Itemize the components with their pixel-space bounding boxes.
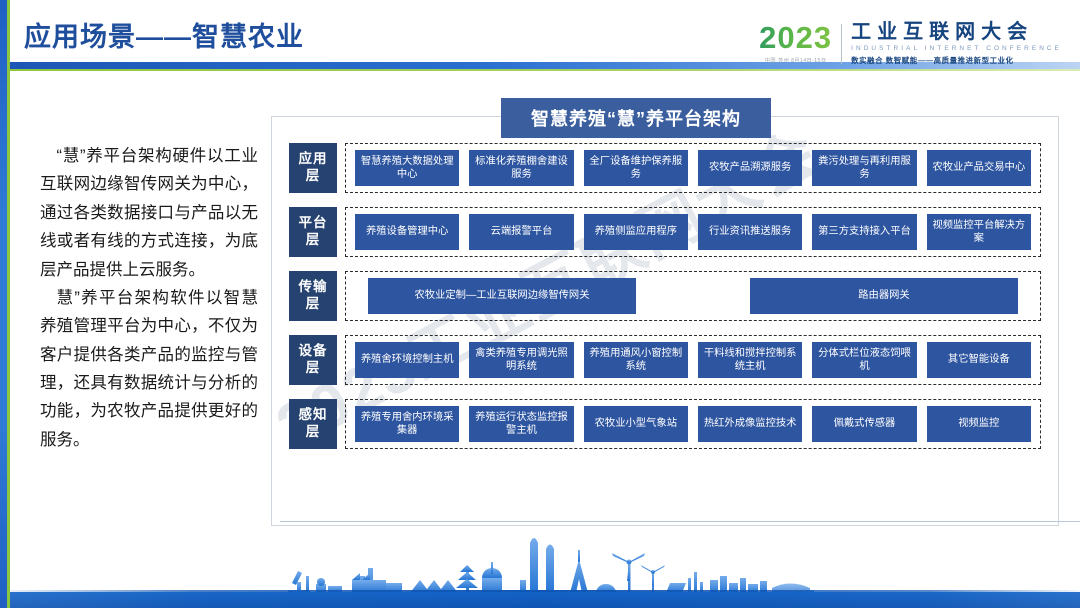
diagram-cell[interactable]: 农牧业小型气象站 [584,406,688,442]
layer-tag-application: 应用 层 [289,143,337,193]
diagram-layer-list: 应用 层 智慧养殖大数据处理中心 标准化养殖棚舍建设服务 全厂设备维护保养服务 … [272,143,1058,449]
lead-paragraphs: “慧”养平台架构硬件以工业互联网边缘智传网关为中心，通过各类数据接口与产品以无线… [40,142,258,454]
diagram-cell[interactable]: 标准化养殖棚舍建设服务 [469,150,573,186]
diagram-cell[interactable]: 粪污处理与再利用服务 [812,150,916,186]
diagram-cell[interactable]: 其它智能设备 [927,342,1031,378]
diagram-cell[interactable]: 农牧产品溯源服务 [698,150,802,186]
footer-skyline [0,520,1080,608]
diagram-cell[interactable]: 分体式栏位液态饲喂机 [812,342,916,378]
diagram-cell[interactable]: 养殖侧监应用程序 [584,214,688,250]
logo-date-line: 中国·苏州 8月14日-15日 [765,57,827,64]
layer-tag-platform-line2: 层 [306,232,321,249]
layer-body-device: 养殖舍环境控制主机 禽类养殖专用调光照明系统 养殖用通风小窗控制系统 干料线和搅… [345,335,1041,385]
diagram-cell[interactable]: 视频监控平台解决方案 [927,214,1031,250]
diagram-cell[interactable]: 路由器网关 [750,278,1018,314]
diagram-cell[interactable]: 养殖专用舍内环境采集器 [355,406,459,442]
logo-year-block: 2023 中国·苏州 8月14日-15日 [759,22,841,64]
diagram-cell[interactable]: 行业资讯推送服务 [698,214,802,250]
page-title: 应用场景——智慧农业 [24,15,304,54]
diagram-cell[interactable]: 云端报警平台 [469,214,573,250]
layer-tag-transport-line1: 传输 [299,279,328,296]
conference-logo: 2023 中国·苏州 8月14日-15日 工业互联网大会 INDUSTRIAL … [759,22,1062,66]
diagram-cell[interactable]: 禽类养殖专用调光照明系统 [469,342,573,378]
left-edge-blue-bar [0,0,7,608]
logo-name-block: 工业互联网大会 INDUSTRIAL INTERNET CONFERENCE 数… [842,22,1062,66]
diagram-cell[interactable]: 智慧养殖大数据处理中心 [355,150,459,186]
diagram-cell[interactable]: 农牧业产品交易中心 [927,150,1031,186]
left-edge-green-bar [7,0,10,608]
layer-tag-application-line1: 应用 [299,151,328,168]
layer-row-platform: 平台 层 养殖设备管理中心 云端报警平台 养殖侧监应用程序 行业资讯推送服务 第… [272,207,1058,257]
layer-row-perception: 感知 层 养殖专用舍内环境采集器 养殖运行状态监控报警主机 农牧业小型气象站 热… [272,399,1058,449]
diagram-title: 智慧养殖“慧”养平台架构 [501,98,771,138]
diagram-cell[interactable]: 视频监控 [927,406,1031,442]
layer-body-application: 智慧养殖大数据处理中心 标准化养殖棚舍建设服务 全厂设备维护保养服务 农牧产品溯… [345,143,1041,193]
title-divider-green [0,69,1080,71]
layer-row-transport: 传输 层 农牧业定制—工业互联网边缘智传网关 路由器网关 [272,271,1058,321]
layer-tag-application-line2: 层 [306,168,321,185]
layer-tag-perception: 感知 层 [289,399,337,449]
diagram-cell[interactable]: 养殖用通风小窗控制系统 [584,342,688,378]
diagram-cell[interactable]: 养殖运行状态监控报警主机 [469,406,573,442]
layer-body-perception: 养殖专用舍内环境采集器 养殖运行状态监控报警主机 农牧业小型气象站 热红外成像监… [345,399,1041,449]
layer-tag-platform-line1: 平台 [299,215,328,232]
skyline-illustration [0,520,1080,608]
logo-tagline: 数实融合 数智赋能——高质量推进新型工业化 [851,55,1062,66]
layer-tag-platform: 平台 层 [289,207,337,257]
layer-tag-device-line1: 设备 [299,343,328,360]
lead-paragraph-2: 慧”养平台架构软件以智慧养殖管理平台为中心，不仅为客户提供各类产品的监控与管理，… [40,284,258,454]
layer-row-application: 应用 层 智慧养殖大数据处理中心 标准化养殖棚舍建设服务 全厂设备维护保养服务 … [272,143,1058,193]
diagram-cell[interactable]: 佩戴式传感器 [812,406,916,442]
logo-year: 2023 [759,22,832,53]
diagram-cell[interactable]: 全厂设备维护保养服务 [584,150,688,186]
layer-row-device: 设备 层 养殖舍环境控制主机 禽类养殖专用调光照明系统 养殖用通风小窗控制系统 … [272,335,1058,385]
diagram-cell[interactable]: 农牧业定制—工业互联网边缘智传网关 [368,278,636,314]
layer-tag-transport: 传输 层 [289,271,337,321]
layer-tag-transport-line2: 层 [306,296,321,313]
diagram-cell[interactable]: 干料线和搅拌控制系统主机 [698,342,802,378]
diagram-cell[interactable]: 热红外成像监控技术 [698,406,802,442]
layer-body-transport: 农牧业定制—工业互联网边缘智传网关 路由器网关 [345,271,1041,321]
layer-tag-perception-line2: 层 [306,424,321,441]
diagram-cell[interactable]: 第三方支持接入平台 [812,214,916,250]
architecture-diagram: 智慧养殖“慧”养平台架构 2023工业互联网大会 应用 层 智慧养殖大数据处理中… [271,116,1059,526]
layer-tag-device-line2: 层 [306,360,321,377]
layer-tag-perception-line1: 感知 [299,407,328,424]
logo-name-en: INDUSTRIAL INTERNET CONFERENCE [851,45,1062,52]
layer-tag-device: 设备 层 [289,335,337,385]
lead-paragraph-1: “慧”养平台架构硬件以工业互联网边缘智传网关为中心，通过各类数据接口与产品以无线… [40,142,258,284]
diagram-cell[interactable]: 养殖舍环境控制主机 [355,342,459,378]
slide-root: 应用场景——智慧农业 2023 中国·苏州 8月14日-15日 工业互联网大会 … [0,0,1080,608]
logo-name-cn: 工业互联网大会 [851,22,1062,43]
layer-body-platform: 养殖设备管理中心 云端报警平台 养殖侧监应用程序 行业资讯推送服务 第三方支持接… [345,207,1041,257]
diagram-cell[interactable]: 养殖设备管理中心 [355,214,459,250]
